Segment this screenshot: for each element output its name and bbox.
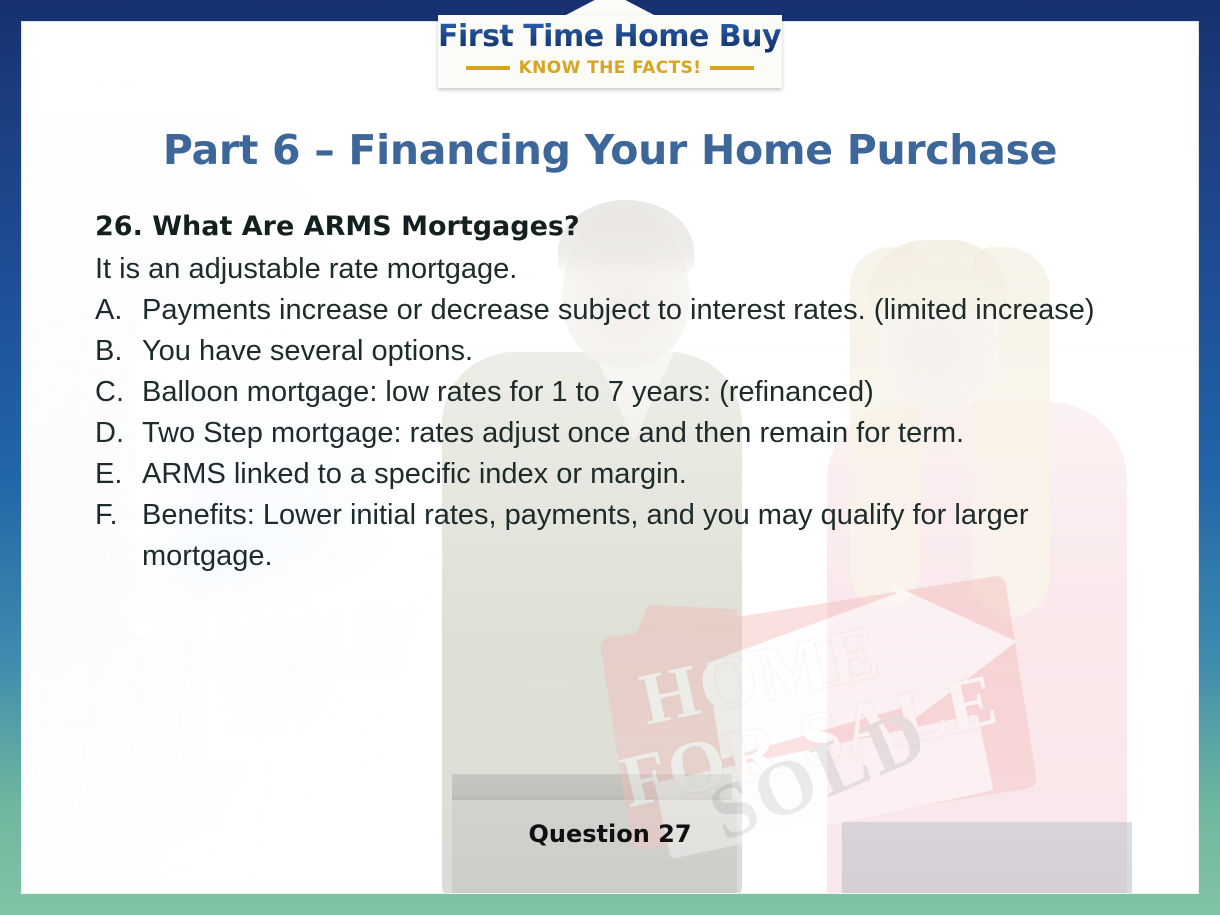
- logo-subtitle-row: KNOW THE FACTS!: [438, 58, 782, 78]
- question-intro: It is an adjustable rate mortgage.: [95, 249, 1155, 289]
- list-item: D. Two Step mortgage: rates adjust once …: [95, 413, 1155, 454]
- question-block: 26. What Are ARMS Mortgages? It is an ad…: [95, 207, 1155, 577]
- answer-marker: B.: [95, 331, 142, 372]
- answer-marker: F.: [95, 495, 142, 536]
- slide-card: HOME FOR SALE SOLD Part 6 – Financing Yo…: [22, 22, 1198, 893]
- answer-text: You have several options.: [142, 331, 1155, 372]
- list-item: C. Balloon mortgage: low rates for 1 to …: [95, 372, 1155, 413]
- logo-subtitle: KNOW THE FACTS!: [519, 58, 702, 78]
- answer-text: Benefits: Lower initial rates, payments,…: [142, 495, 1155, 577]
- list-item: F. Benefits: Lower initial rates, paymen…: [95, 495, 1155, 577]
- question-heading: 26. What Are ARMS Mortgages?: [95, 207, 1155, 247]
- answer-marker: D.: [95, 413, 142, 454]
- answer-text: Two Step mortgage: rates adjust once and…: [142, 413, 1155, 454]
- answer-text: Payments increase or decrease subject to…: [142, 290, 1155, 331]
- list-item: B. You have several options.: [95, 331, 1155, 372]
- dash-left-icon: [466, 66, 510, 70]
- answer-list: A. Payments increase or decrease subject…: [95, 290, 1155, 577]
- answer-text: ARMS linked to a specific index or margi…: [142, 454, 1155, 495]
- slide-frame: HOME FOR SALE SOLD Part 6 – Financing Yo…: [0, 0, 1220, 915]
- list-item: E. ARMS linked to a specific index or ma…: [95, 454, 1155, 495]
- answer-text: Balloon mortgage: low rates for 1 to 7 y…: [142, 372, 1155, 413]
- logo-title: First Time Home Buyer: [438, 19, 782, 54]
- answer-marker: C.: [95, 372, 142, 413]
- next-question-label: Question 27: [22, 820, 1198, 848]
- answer-marker: E.: [95, 454, 142, 495]
- dash-right-icon: [710, 66, 754, 70]
- answer-marker: A.: [95, 290, 142, 331]
- house-roof-icon: [564, 0, 656, 16]
- page-title: Part 6 – Financing Your Home Purchase: [22, 126, 1198, 174]
- list-item: A. Payments increase or decrease subject…: [95, 290, 1155, 331]
